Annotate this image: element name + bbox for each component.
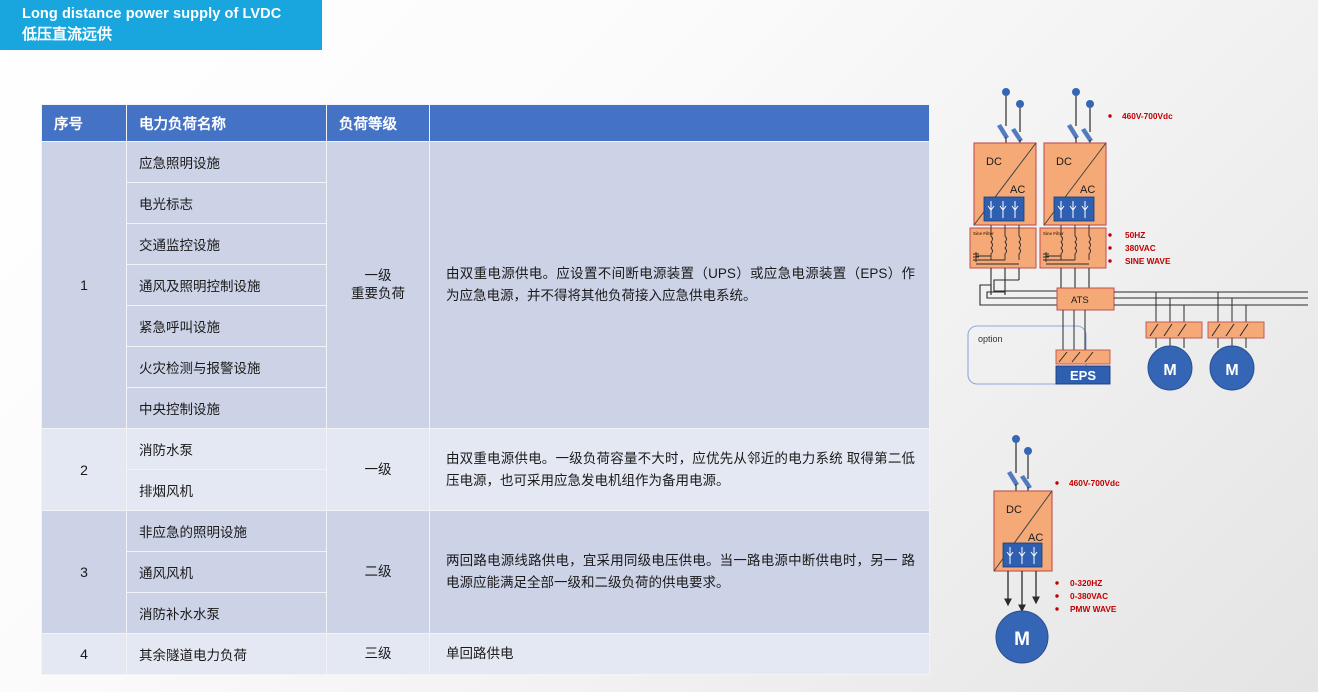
- cell-supply-requirement: 单回路供电: [430, 634, 930, 675]
- converter-block-b: DC AC: [1044, 143, 1106, 225]
- cell-load-grade: 一级重要负荷: [327, 142, 430, 429]
- motor-1-label: M: [1163, 362, 1176, 379]
- table-body: 1应急照明设施一级重要负荷由双重电源供电。应设置不间断电源装置（UPS）或应急电…: [42, 142, 930, 675]
- cell-load-name: 电光标志: [127, 183, 327, 224]
- table-row: 2消防水泵一级由双重电源供电。一级负荷容量不大时，应优先从邻近的电力系统 取得第…: [42, 429, 930, 470]
- cell-load-name: 火灾检测与报警设施: [127, 347, 327, 388]
- cell-load-grade: 二级: [327, 511, 430, 634]
- cell-load-grade: 一级: [327, 429, 430, 511]
- power-topology-diagrams: DC AC Sine Filter: [960, 80, 1318, 670]
- cell-sequence-number: 4: [42, 634, 127, 675]
- dc-source-leads-b: [1067, 88, 1094, 143]
- cell-supply-requirement: 两回路电源线路供电，宜采用同级电压供电。当一路电源中断供电时，另一 路电源应能满…: [430, 511, 930, 634]
- converter-a-dc-label: DC: [986, 156, 1002, 168]
- table-header-row: 序号 电力负荷名称 负荷等级: [42, 105, 930, 142]
- motor-contactor-2: [1208, 322, 1264, 348]
- motor-output-leads-bottom: [1008, 571, 1036, 611]
- cell-load-name: 应急照明设施: [127, 142, 327, 183]
- load-grade-line-1: 三级: [327, 645, 429, 663]
- cell-load-name: 通风及照明控制设施: [127, 265, 327, 306]
- cell-sequence-number: 2: [42, 429, 127, 511]
- diagram-top: DC AC Sine Filter: [968, 88, 1308, 390]
- column-header-load-grade: 负荷等级: [327, 105, 430, 142]
- annotation-dc-voltage-top: 460V-700Vdc: [1108, 111, 1173, 121]
- converter-b-dc-label: DC: [1056, 156, 1072, 168]
- table-header: 序号 电力负荷名称 负荷等级: [42, 105, 930, 142]
- cell-load-name: 中央控制设施: [127, 388, 327, 429]
- cell-load-name: 排烟风机: [127, 470, 327, 511]
- motor-bottom-label: M: [1014, 629, 1030, 650]
- converter-bottom-dc-label: DC: [1006, 504, 1022, 516]
- annotation-output-spec-1: 0-380VAC: [1070, 591, 1108, 601]
- eps-option-group: option EPS: [968, 310, 1110, 384]
- diagram-zone: DC AC Sine Filter: [960, 80, 1318, 670]
- cell-load-name: 交通监控设施: [127, 224, 327, 265]
- annotation-ac-spec: 50HZ 380VAC SINE WAVE: [1108, 230, 1171, 266]
- cell-sequence-number: 1: [42, 142, 127, 429]
- ats-label: ATS: [1071, 295, 1089, 306]
- option-label: option: [978, 334, 1003, 344]
- table-row: 4其余隧道电力负荷三级单回路供电: [42, 634, 930, 675]
- table-row: 1应急照明设施一级重要负荷由双重电源供电。应设置不间断电源装置（UPS）或应急电…: [42, 142, 930, 183]
- cell-load-name: 非应急的照明设施: [127, 511, 327, 552]
- cell-load-name: 其余隧道电力负荷: [127, 634, 327, 675]
- ats-block: ATS: [1057, 288, 1114, 310]
- eps-label: EPS: [1070, 368, 1096, 383]
- title-english: Long distance power supply of LVDC: [22, 4, 322, 24]
- annotation-output-spec-2: PMW WAVE: [1070, 604, 1117, 614]
- converter-block-bottom: DC AC: [994, 491, 1052, 571]
- table-row: 3非应急的照明设施二级两回路电源线路供电，宜采用同级电压供电。当一路电源中断供电…: [42, 511, 930, 552]
- cell-load-grade: 三级: [327, 634, 430, 675]
- load-grade-line-1: 二级: [327, 563, 429, 581]
- motor-2: M: [1210, 346, 1254, 390]
- annotation-ac-spec-1: 380VAC: [1125, 243, 1156, 253]
- cell-load-name: 通风风机: [127, 552, 327, 593]
- annotation-ac-spec-2: SINE WAVE: [1125, 256, 1171, 266]
- motor-1: M: [1148, 346, 1192, 390]
- motor-bottom: M: [996, 611, 1048, 663]
- column-header-no: 序号: [42, 105, 127, 142]
- title-chinese: 低压直流远供: [22, 24, 322, 45]
- cell-supply-requirement: 由双重电源供电。一级负荷容量不大时，应优先从邻近的电力系统 取得第二低压电源，也…: [430, 429, 930, 511]
- power-load-table: 序号 电力负荷名称 负荷等级 1应急照明设施一级重要负荷由双重电源供电。应设置不…: [41, 104, 930, 675]
- annotation-dc-voltage-bottom: 460V-700Vdc: [1055, 478, 1120, 488]
- cell-supply-requirement: 由双重电源供电。应设置不间断电源装置（UPS）或应急电源装置（EPS）作为应急电…: [430, 142, 930, 429]
- motor-2-label: M: [1225, 362, 1238, 379]
- cell-load-name: 消防补水水泵: [127, 593, 327, 634]
- converter-b-ac-label: AC: [1080, 184, 1095, 196]
- cell-load-name: 消防水泵: [127, 429, 327, 470]
- load-grade-line-1: 一级: [327, 267, 429, 285]
- annotation-dc-voltage-top-text: 460V-700Vdc: [1122, 111, 1173, 121]
- column-header-description: [430, 105, 930, 142]
- distribution-busbars: [1114, 292, 1308, 322]
- cell-load-name: 紧急呼叫设施: [127, 306, 327, 347]
- converter-bottom-ac-label: AC: [1028, 532, 1043, 544]
- load-grade-line-1: 一级: [327, 461, 429, 479]
- cell-sequence-number: 3: [42, 511, 127, 634]
- column-header-load-name: 电力负荷名称: [127, 105, 327, 142]
- annotation-output-spec-bottom: 0-320HZ 0-380VAC PMW WAVE: [1055, 578, 1117, 614]
- annotation-ac-spec-0: 50HZ: [1125, 230, 1145, 240]
- dc-source-leads-a: [997, 88, 1024, 143]
- load-grade-line-2: 重要负荷: [327, 285, 429, 303]
- annotation-output-spec-0: 0-320HZ: [1070, 578, 1102, 588]
- converter-a-ac-label: AC: [1010, 184, 1025, 196]
- dc-source-leads-bottom: [1007, 435, 1032, 491]
- converter-block-a: DC AC: [974, 143, 1036, 225]
- motor-contactor-1: [1146, 322, 1202, 348]
- diagram-bottom: DC AC M: [994, 435, 1120, 663]
- annotation-dc-voltage-bottom-text: 460V-700Vdc: [1069, 478, 1120, 488]
- title-banner: Long distance power supply of LVDC 低压直流远…: [0, 0, 322, 50]
- sine-filter-b: Sine Filter: [1040, 225, 1106, 285]
